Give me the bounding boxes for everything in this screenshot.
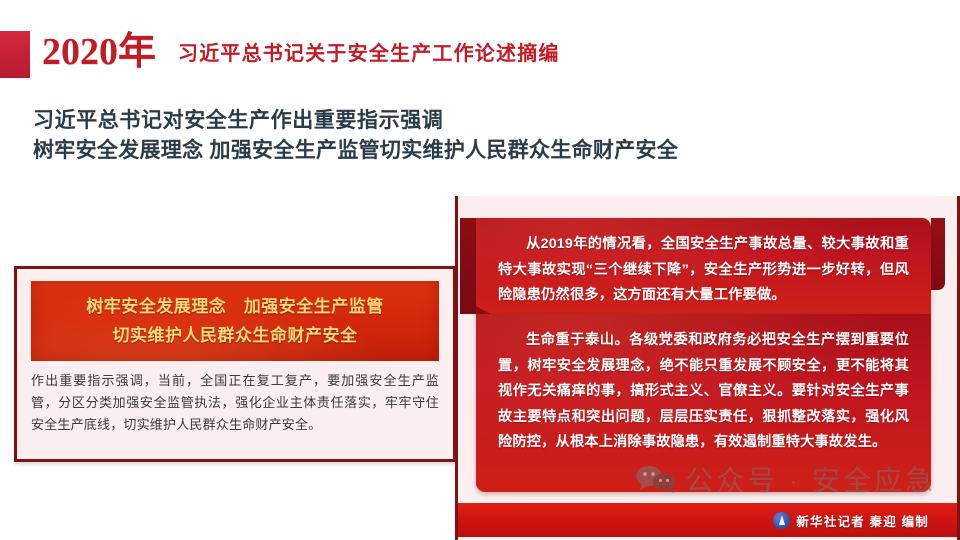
right-paragraph-2-text: 生命重于泰山。各级党委和政府务必把安全生产摆到重要位置，树牢安全发展理念，绝不能… — [498, 328, 909, 456]
header-accent-bar — [0, 31, 30, 78]
subtitle-line-1: 习近平总书记对安全生产作出重要指示强调 — [33, 106, 933, 136]
left-quote-card: 树牢安全发展理念 加强安全生产监管 切实维护人民群众生命财产安全 作出重要指示强… — [14, 266, 456, 462]
page-title: 习近平总书记关于安全生产工作论述摘编 — [178, 38, 560, 70]
left-card-banner: 树牢安全发展理念 加强安全生产监管 切实维护人民群众生命财产安全 — [31, 281, 439, 361]
left-card-body-text: 作出重要指示强调，当前，全国正在复工复产，要加强安全生产监管，分区分类加强安全监… — [31, 370, 439, 436]
ribbon-fold-left — [460, 218, 476, 314]
left-banner-line-2: 切实维护人民群众生命财产安全 — [113, 321, 358, 350]
credit-text: 新华社记者 秦迎 编制 — [796, 511, 929, 530]
ribbon-fold-right — [931, 218, 945, 290]
header-year: 2020年 — [42, 26, 156, 78]
page-header: 2020年 习近平总书记关于安全生产工作论述摘编 — [0, 28, 960, 80]
subtitle-block: 习近平总书记对安全生产作出重要指示强调 树牢安全发展理念 加强安全生产监管切实维… — [33, 106, 933, 166]
right-quote-panel: 从2019年的情况看，全国安全生产事故总量、较大事故和重特大事故实现“三个继续下… — [455, 196, 960, 540]
subtitle-line-2: 树牢安全发展理念 加强安全生产监管切实维护人民群众生命财产安全 — [33, 136, 933, 166]
ribbon-paragraph-1: 从2019年的情况看，全国安全生产事故总量、较大事故和重特大事故实现“三个继续下… — [476, 218, 931, 314]
right-paragraph-1-text: 从2019年的情况看，全国安全生产事故总量、较大事故和重特大事故实现“三个继续下… — [498, 232, 909, 309]
xinhua-logo-icon — [773, 512, 790, 529]
left-banner-line-1: 树牢安全发展理念 加强安全生产监管 — [86, 292, 384, 321]
left-card-inner: 树牢安全发展理念 加强安全生产监管 切实维护人民群众生命财产安全 作出重要指示强… — [17, 269, 453, 459]
credit-bar: 新华社记者 秦迎 编制 — [458, 503, 957, 537]
ribbon-paragraph-2: 生命重于泰山。各级党委和政府务必把安全生产摆到重要位置，树牢安全发展理念，绝不能… — [476, 314, 931, 492]
